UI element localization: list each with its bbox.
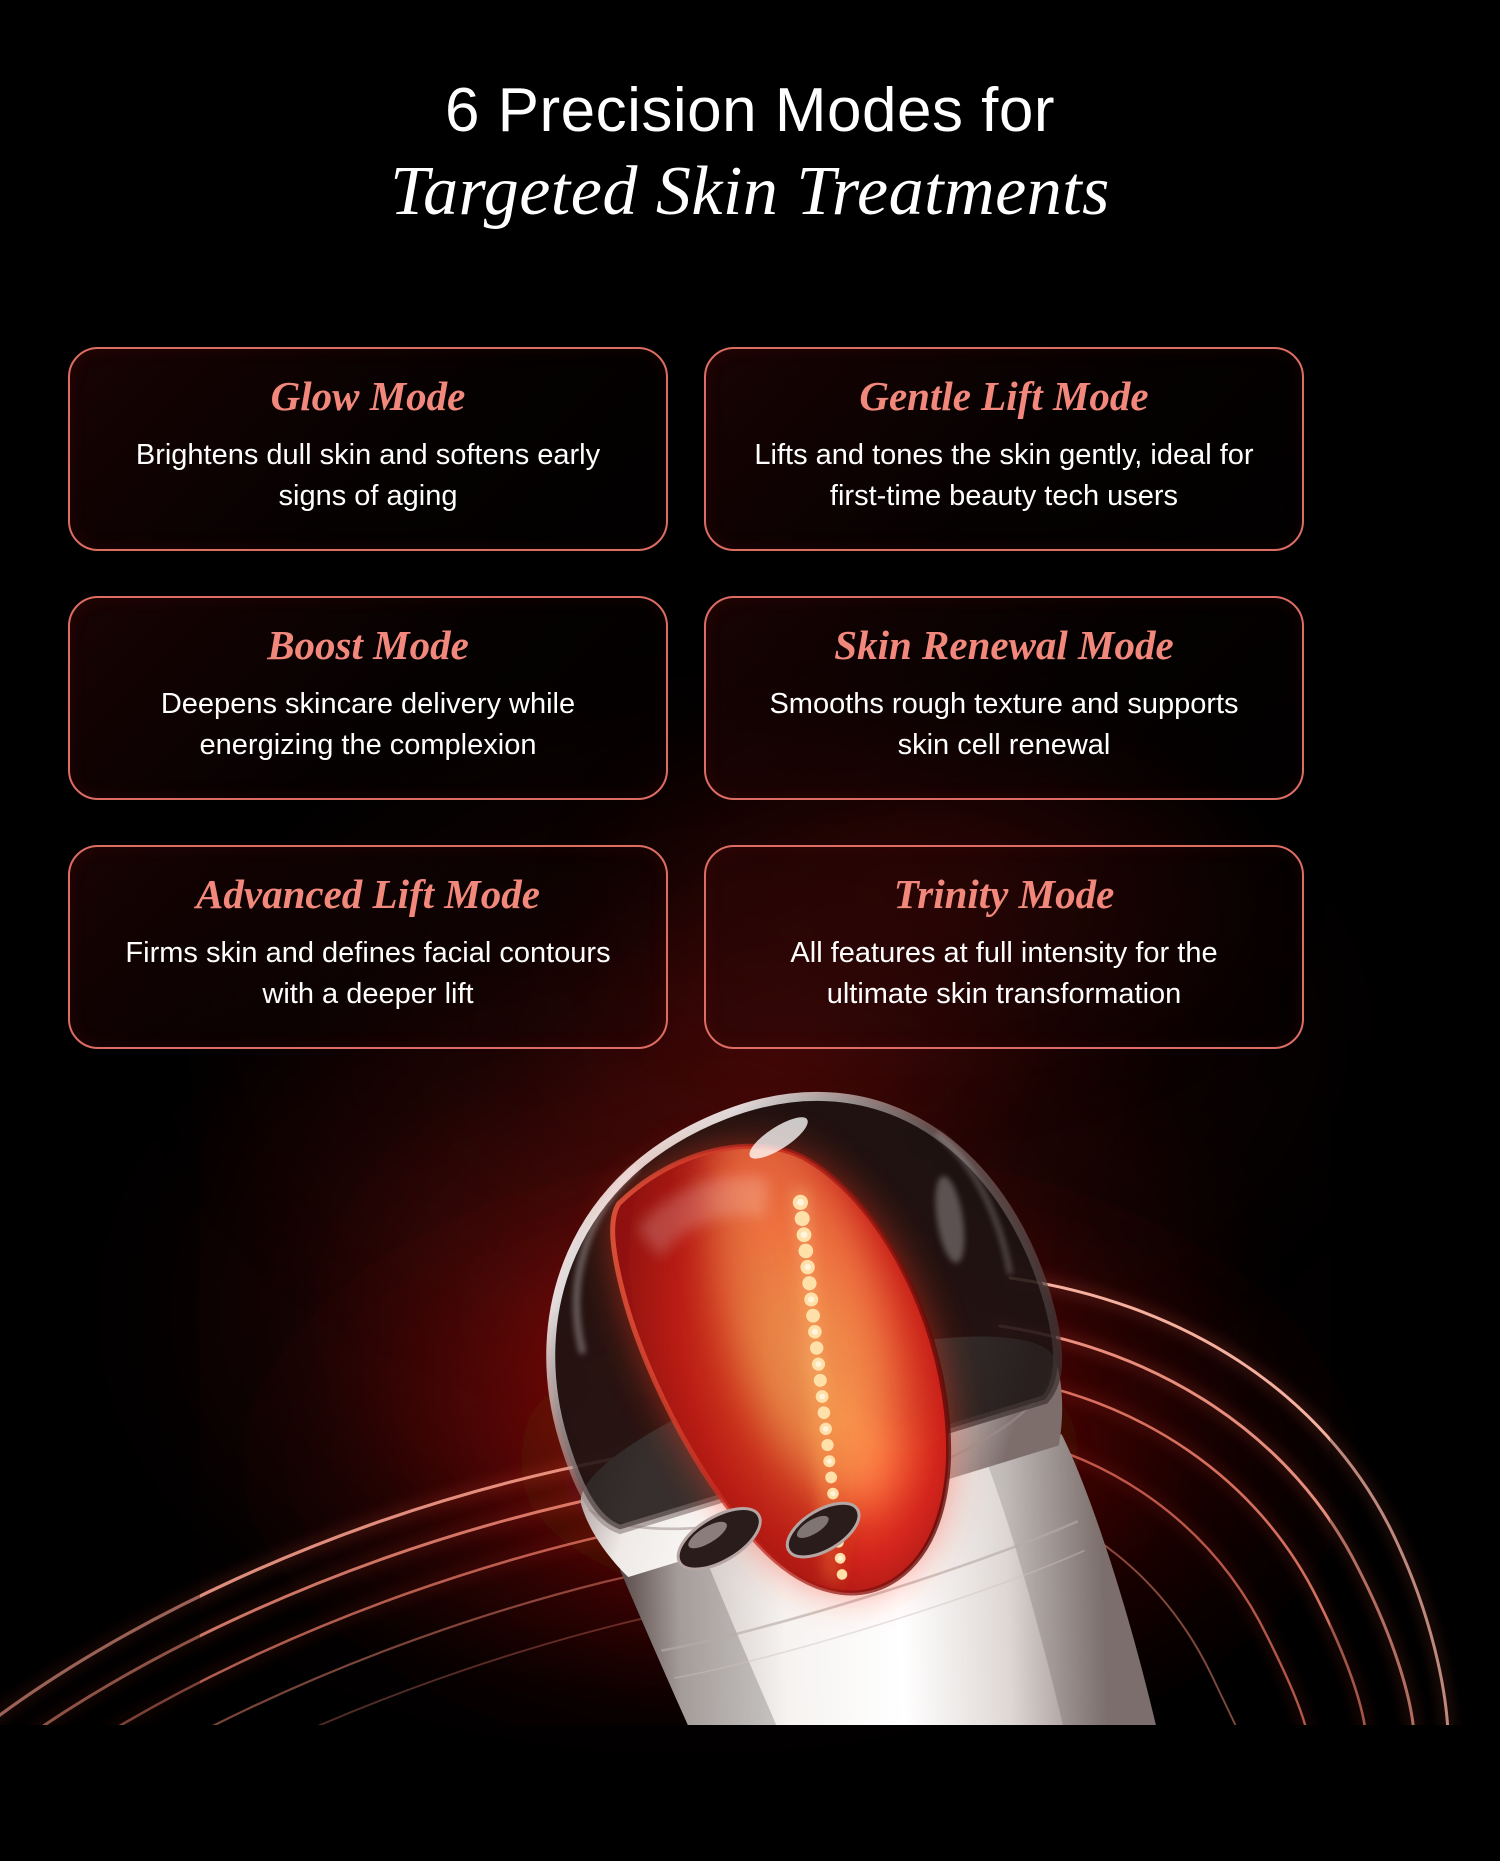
mode-title: Boost Mode (267, 624, 469, 667)
mode-card-trinity[interactable]: Trinity Mode All features at full intens… (704, 845, 1304, 1049)
mode-card-gentle-lift[interactable]: Gentle Lift Mode Lifts and tones the ski… (704, 347, 1304, 551)
mode-card-boost[interactable]: Boost Mode Deepens skincare delivery whi… (68, 596, 668, 800)
mode-description: Lifts and tones the skin gently, ideal f… (744, 435, 1264, 517)
page-header: 6 Precision Modes for Targeted Skin Trea… (0, 0, 1500, 234)
page-title-line-1: 6 Precision Modes for (0, 78, 1500, 145)
mode-description: Smooths rough texture and supports skin … (744, 684, 1264, 766)
mode-title: Skin Renewal Mode (834, 624, 1173, 667)
mode-card-advanced-lift[interactable]: Advanced Lift Mode Firms skin and define… (68, 845, 668, 1049)
right-vignette (1330, 1040, 1500, 1725)
left-vignette (0, 1040, 200, 1725)
mode-title: Glow Mode (271, 375, 466, 418)
product-image (0, 1040, 1500, 1725)
mode-title: Trinity Mode (894, 873, 1115, 916)
mode-card-skin-renewal[interactable]: Skin Renewal Mode Smooths rough texture … (704, 596, 1304, 800)
mode-card-glow[interactable]: Glow Mode Brightens dull skin and soften… (68, 347, 668, 551)
mode-description: All features at full intensity for the u… (744, 933, 1264, 1015)
mode-description: Brightens dull skin and softens early si… (108, 435, 628, 517)
page-title-line-2: Targeted Skin Treatments (0, 151, 1500, 234)
mode-description: Firms skin and defines facial contours w… (108, 933, 628, 1015)
mode-description: Deepens skincare delivery while energizi… (108, 684, 628, 766)
mode-title: Advanced Lift Mode (196, 873, 540, 916)
mode-title: Gentle Lift Mode (859, 375, 1148, 418)
modes-grid: Glow Mode Brightens dull skin and soften… (68, 347, 1304, 1049)
